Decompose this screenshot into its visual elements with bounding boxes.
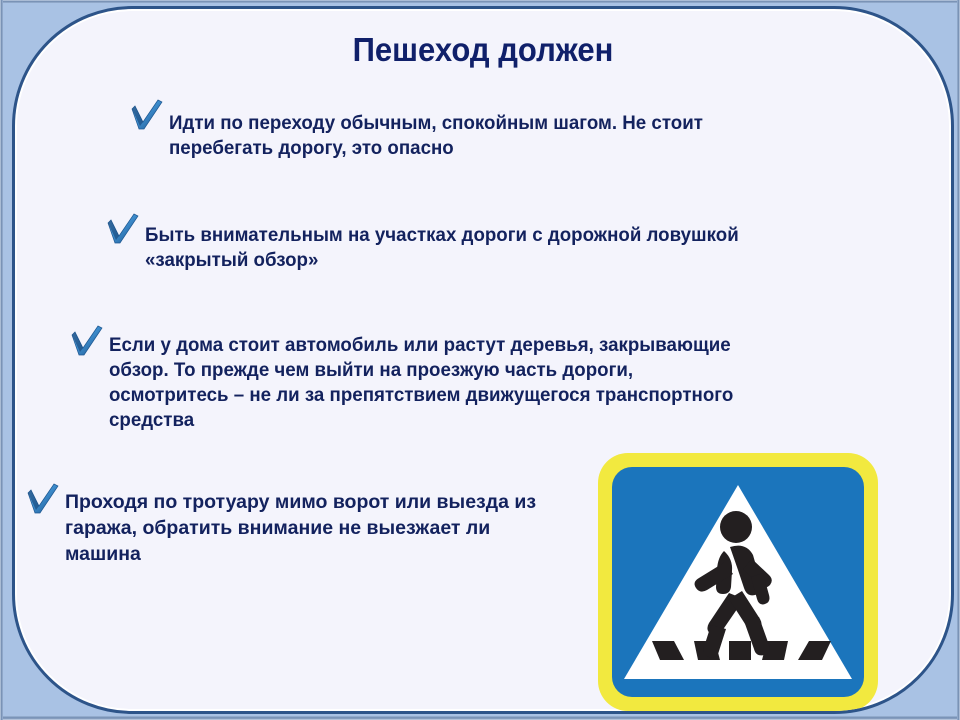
check-mark-icon [103, 209, 143, 249]
sign-blue-plate [612, 467, 864, 697]
slide: Пешеход должен Идти по переходу обыч [0, 0, 960, 720]
bullet-text-3: Если у дома стоит автомобиль или растут … [109, 321, 741, 433]
check-mark-icon [127, 95, 167, 135]
frame-edge-bottom [0, 716, 960, 720]
bullet-item-4: Проходя по тротуару мимо ворот или выезд… [23, 479, 543, 567]
bullet-text-2: Быть внимательным на участках дороги с д… [145, 209, 757, 273]
frame-edge-left [0, 0, 3, 720]
content-panel: Пешеход должен Идти по переходу обыч [12, 6, 954, 714]
frame-edge-top [0, 0, 960, 3]
pedestrian-crossing-sign [598, 453, 878, 711]
bullet-text-4: Проходя по тротуару мимо ворот или выезд… [65, 479, 543, 567]
bullet-item-1: Идти по переходу обычным, спокойным шаго… [127, 95, 787, 161]
check-mark-icon [67, 321, 107, 361]
bullet-item-3: Если у дома стоит автомобиль или растут … [67, 321, 767, 433]
page-title: Пешеход должен [43, 31, 923, 69]
check-mark-icon [23, 479, 63, 519]
sign-pictogram [612, 467, 864, 697]
bullet-item-2: Быть внимательным на участках дороги с д… [103, 209, 783, 273]
bullet-text-1: Идти по переходу обычным, спокойным шаго… [169, 95, 762, 161]
